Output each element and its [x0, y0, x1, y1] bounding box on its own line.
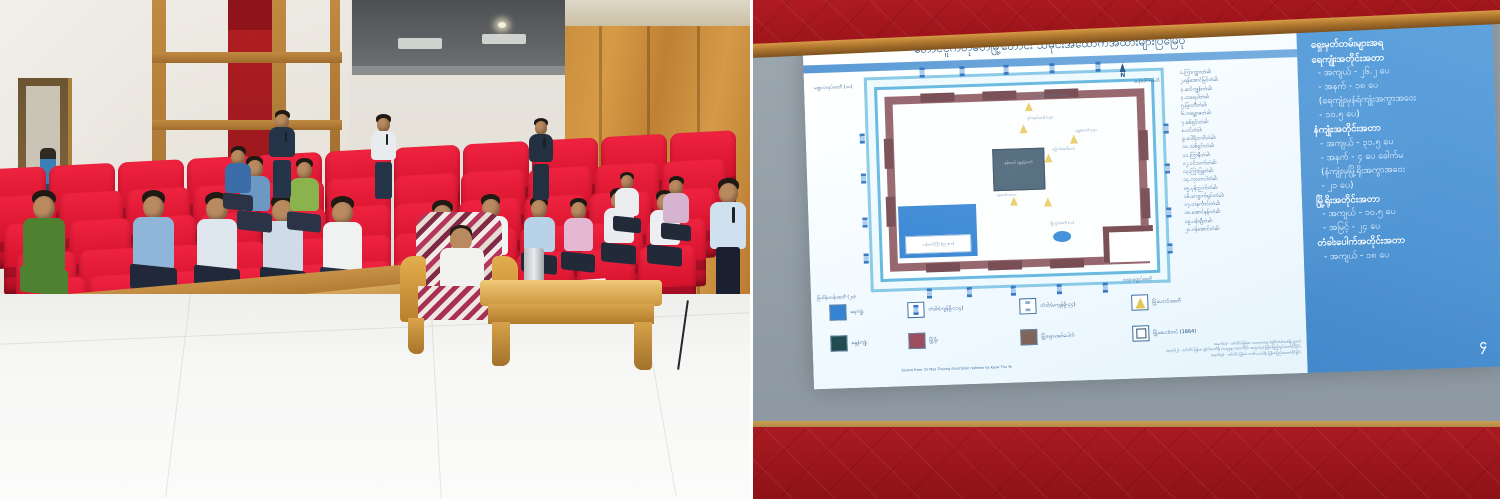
palace-block	[992, 148, 1045, 192]
legend-item: မြို့ရိုး	[908, 329, 1020, 349]
legend-label: တံခါး(ကျန်ရှိ-၁၁၄)	[928, 305, 963, 313]
person-head	[143, 196, 165, 220]
wall-segment	[886, 197, 896, 227]
microphone	[732, 207, 735, 222]
person-legs	[375, 162, 392, 199]
city-gate-marker	[860, 134, 865, 144]
slide-page-number: ၄	[1479, 336, 1487, 355]
seated-person	[612, 172, 642, 242]
legend-label: မြို့ရိုး	[929, 337, 938, 344]
person-head	[297, 162, 312, 179]
city-gate-marker	[967, 287, 972, 297]
person-head	[669, 180, 683, 195]
map-feature-label: မြို့တွင်းစေတီ (၁၁)	[1051, 221, 1075, 227]
pagoda-icon	[1135, 297, 1145, 308]
table-top	[480, 280, 662, 306]
city-gate-marker	[959, 66, 964, 76]
legend-gate-open-icon	[1019, 298, 1037, 315]
wood-frame-member	[152, 120, 342, 130]
city-gate-marker	[919, 68, 924, 78]
source-credit: Source from: Dr Myo Thaung illustration …	[901, 365, 1011, 373]
person-legs	[273, 160, 290, 198]
table-apron	[488, 304, 654, 324]
person-head	[332, 202, 353, 225]
city-gate-marker	[1049, 63, 1054, 73]
city-gate-marker	[1003, 65, 1008, 75]
person-torso	[23, 218, 65, 272]
projection-screen-photo: တောင်ငူကတုမတ်မြို့ဟောင်း သမိုင်းအထောက်အထ…	[750, 0, 1500, 499]
legend-label: မြို့ရှေးယခင်ပေါက်	[1041, 332, 1074, 340]
person-torso	[225, 163, 251, 193]
legend-city-plan-icon	[1132, 325, 1150, 342]
pagoda-icon	[1010, 196, 1018, 205]
person-legs	[716, 247, 740, 300]
gate-closed-icon	[913, 305, 918, 315]
pagoda-icon	[1019, 124, 1027, 133]
city-plan-icon	[1136, 328, 1146, 338]
map-feature-label: ကန်တော်ကလေး	[996, 193, 1017, 199]
gate-name-list: ၁.ကြာကျွားတံခါး၂.ရန်အောင်မြင်တံခါး၃.ဆင်က…	[1180, 65, 1303, 234]
city-gate-marker	[1165, 163, 1170, 173]
city-gate-marker	[861, 174, 866, 184]
slide-body: တောင်ငူကတုမတ်မြို့ဟောင်း သမိုင်းအထောက်အထ…	[802, 21, 1307, 389]
carved-gold-coffee-table	[480, 280, 662, 370]
person-head	[571, 202, 586, 219]
lower-red-wall-panel	[750, 427, 1500, 499]
auditorium-photo	[0, 0, 750, 499]
table-leg	[634, 322, 652, 370]
person-legs	[601, 242, 636, 264]
ceiling-light	[482, 34, 526, 44]
wall-segment	[1050, 258, 1084, 268]
person-torso	[371, 131, 396, 160]
upper-wall-band	[565, 0, 750, 26]
city-gate-marker	[862, 217, 867, 227]
legend-color-swatch	[829, 304, 847, 321]
person-legs	[533, 164, 549, 200]
wood-frame-member	[152, 52, 342, 63]
pagoda-icon	[1044, 153, 1052, 162]
inner-fort	[1103, 225, 1154, 263]
person-legs	[661, 223, 691, 242]
person-torso	[529, 134, 553, 162]
gate-open-icon	[1025, 301, 1030, 311]
person-legs	[223, 193, 253, 212]
slide-sidebar: ရှေးမှတ်တမ်းများအရရေကျုံးအတိုင်းအတာ- အကျ…	[1296, 15, 1500, 373]
legend-label: ရှေ့နံကျုံး	[851, 339, 867, 347]
pagoda-icon	[1044, 197, 1052, 206]
standing-person	[266, 110, 298, 184]
person-torso	[615, 188, 639, 216]
legend-item: မြို့မပေးခံတပ် (1864)	[1132, 322, 1252, 342]
person-legs	[613, 216, 641, 234]
lake-label: ကန်တော်ကြီး (၅၅ ဧက)	[905, 234, 972, 254]
pagoda-icon	[1025, 102, 1033, 111]
city-gate-marker	[1166, 207, 1171, 217]
city-gate-marker	[1057, 284, 1062, 294]
wall-segment	[1141, 188, 1151, 218]
city-gate-marker	[1103, 283, 1108, 293]
person-head	[33, 196, 55, 220]
map-feature-label: ရှင်ဘုရင်စေတီ (၁၃)	[1027, 115, 1053, 121]
pagoda-icon	[1070, 134, 1078, 143]
legend-color-swatch	[908, 333, 926, 350]
person-torso	[710, 202, 746, 248]
city-gate-marker	[1163, 123, 1168, 133]
wall-segment	[920, 93, 954, 103]
seated-person	[660, 176, 692, 250]
city-gate-marker	[927, 288, 932, 298]
map-feature-label: ရွှေဆံတော်ဘုရား	[1076, 128, 1097, 134]
person-torso	[323, 222, 362, 273]
legend-label: တံခါး(မကျန်ရှိ-၄၄)	[1040, 301, 1075, 309]
standing-person	[706, 178, 750, 281]
person-legs	[561, 251, 595, 273]
map-edge-label: ဆန်ဒေါင်းစေတီ	[1134, 78, 1160, 86]
ceiling-light	[398, 38, 442, 49]
panel-divider	[750, 0, 753, 499]
map-feature-label: မြောက်စေတီတော်	[1052, 147, 1075, 153]
city-gate-marker	[1095, 62, 1100, 72]
floor-seam	[165, 294, 191, 498]
wall-segment	[988, 260, 1022, 270]
compass-needle	[1119, 63, 1125, 72]
compass-label: N	[1120, 72, 1125, 79]
seated-person	[18, 190, 70, 310]
legend-row: ရေကျုံးတံခါး(ကျန်ရှိ-၁၁၄)တံခါး(မကျန်ရှိ-…	[829, 291, 1259, 321]
legend-pagoda-icon	[1131, 294, 1149, 311]
person-head	[531, 200, 547, 218]
table-leg	[492, 322, 510, 366]
compass-north-icon: N	[1115, 63, 1130, 79]
wall-segment	[926, 262, 960, 272]
legend-color-swatch	[1020, 329, 1038, 346]
microphone	[285, 131, 287, 142]
armchair-leg	[408, 318, 424, 354]
city-gate-marker	[864, 253, 869, 263]
legend-label: ရေကျုံး	[850, 308, 863, 315]
legend-label: မြို့မပေးခံတပ် (1864)	[1153, 328, 1196, 336]
person-torso	[663, 193, 689, 223]
microphone	[543, 138, 545, 148]
person-legs	[20, 265, 68, 296]
map-edge-label: မဏ္ဍလာရပ်စေတီ (၁၈)	[814, 84, 853, 92]
legend-label: မြို့ဟောင်းစေတီ	[1152, 298, 1181, 306]
projected-slide: တောင်ငူကတုမတ်မြို့ဟောင်း သမိုင်းအထောက်အထ…	[802, 15, 1500, 390]
city-gate-marker	[1011, 286, 1016, 296]
legend-item: ရှေ့နံကျုံး	[830, 333, 908, 352]
historical-city-map: နန်းတော် ရွှေနန်းတော် ကန်တော်ကြီး (၅၅ ဧက…	[864, 68, 1171, 293]
seated-person	[222, 146, 254, 220]
legend-item: တံခါး(မကျန်ရှိ-၄၄)	[1019, 295, 1131, 315]
legend-item: မြို့ဟောင်းစေတီ	[1131, 291, 1251, 311]
person-head	[719, 183, 738, 204]
person-head	[275, 114, 289, 129]
wall-segment	[1139, 130, 1149, 160]
person-torso	[197, 219, 237, 271]
standing-person	[368, 114, 399, 186]
person-torso	[524, 217, 555, 253]
legend-gate-closed-icon	[907, 302, 925, 319]
legend-item: ရေကျုံး	[829, 302, 907, 321]
legend-item: တံခါး(ကျန်ရှိ-၁၁၄)	[907, 298, 1019, 318]
red-curtain-strip	[228, 0, 276, 30]
person-head	[231, 150, 245, 165]
person-torso	[564, 218, 593, 252]
legend-item: မြို့ရှေးယခင်ပေါက်	[1020, 326, 1132, 346]
map-edge-label: မြသိန်းတန်းစေတီ (၂၀)	[817, 294, 856, 302]
sidebar-measurements: ရှေးမှတ်တမ်းများအရရေကျုံးအတိုင်းအတာ- အကျ…	[1311, 33, 1490, 265]
wall-segment	[884, 139, 894, 169]
person-head	[377, 118, 390, 132]
person-torso	[269, 127, 295, 157]
person-legs	[287, 211, 321, 233]
map-edge-label: ဘုရားမဏ္ဍပ်စေတီ	[1122, 276, 1152, 284]
two-panel-news-photo: တောင်ငူကတုမတ်မြို့ဟောင်း သမိုင်းအထောက်အထ…	[0, 0, 1500, 499]
wall-segment	[982, 90, 1016, 100]
city-gate-marker	[1167, 243, 1172, 253]
ceiling-light	[498, 22, 506, 28]
person-torso	[133, 217, 174, 270]
legend-color-swatch	[830, 335, 848, 352]
standing-person	[526, 118, 556, 188]
seated-person	[560, 198, 596, 282]
